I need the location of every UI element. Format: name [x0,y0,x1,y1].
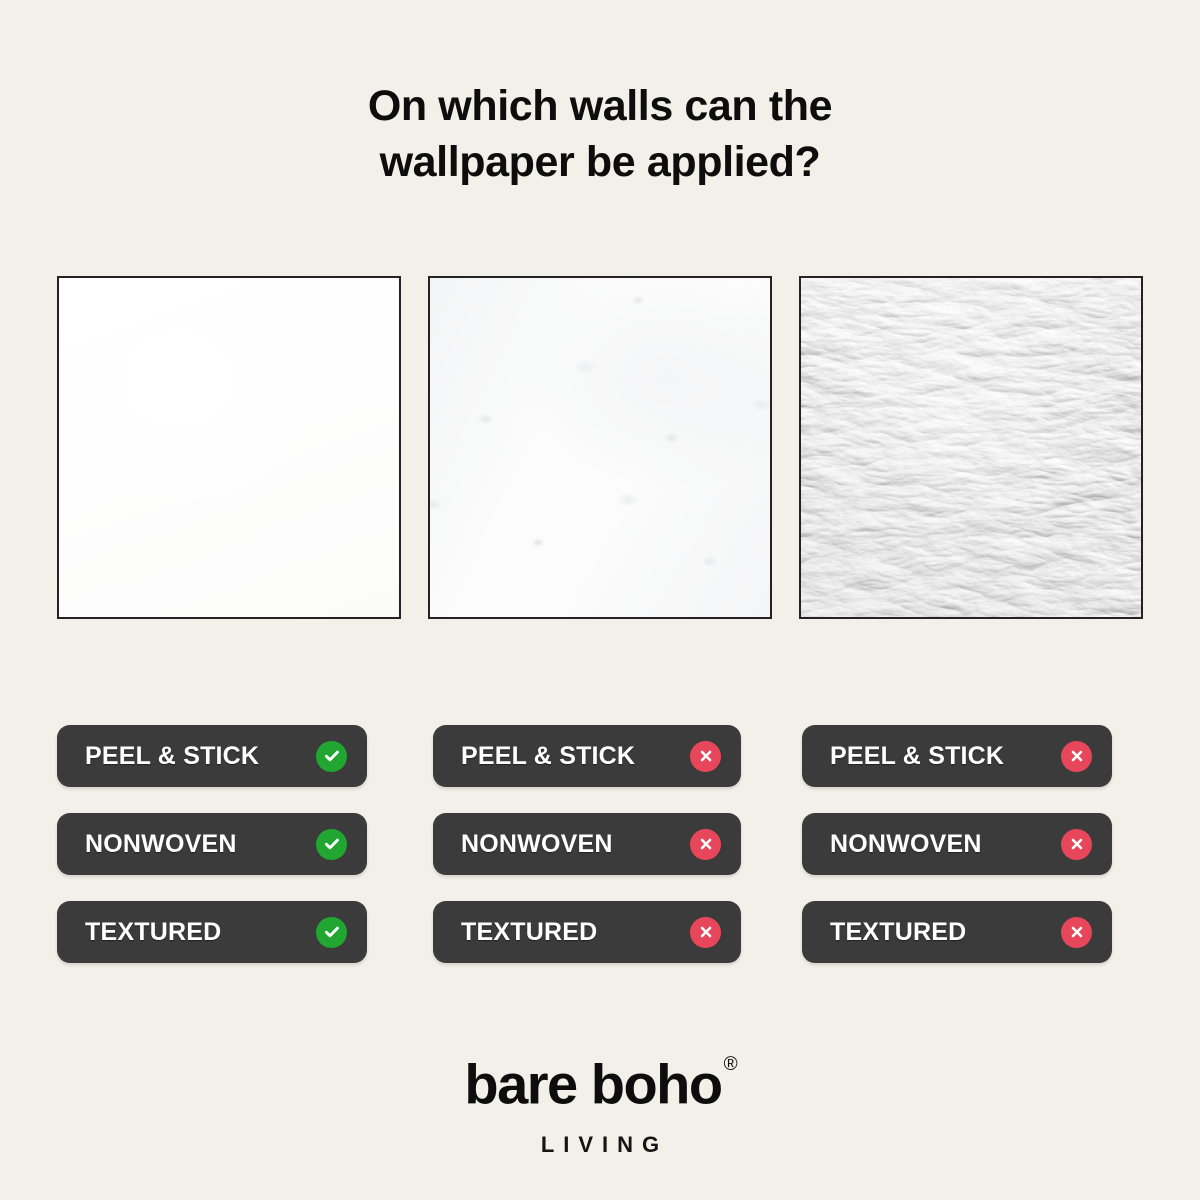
smooth-wall-texture [59,278,399,617]
badge-label: PEEL & STICK [830,742,1004,771]
badge-nonwoven-heavily-textured[interactable]: NONWOVEN [802,813,1112,875]
badge-textured-heavily-textured[interactable]: TEXTURED [802,901,1112,963]
cross-icon [1061,741,1092,772]
check-icon [316,917,347,948]
badge-label: PEEL & STICK [85,742,259,771]
light-wall-texture [430,278,770,617]
wall-panel-heavily-textured [799,276,1143,619]
badge-textured-lightly-textured[interactable]: TEXTURED [433,901,741,963]
page-title: On which walls can the wallpaper be appl… [0,78,1200,190]
badge-label: NONWOVEN [830,830,982,859]
heavy-texture-relief [801,278,1141,617]
badge-label: TEXTURED [830,918,966,947]
compatibility-column-lightly-textured-wall: PEEL & STICK NONWOVEN TEXTURED [433,725,743,989]
brand-subtitle: LIVING [0,1132,1200,1158]
badge-peel-and-stick-heavily-textured[interactable]: PEEL & STICK [802,725,1112,787]
badge-nonwoven-lightly-textured[interactable]: NONWOVEN [433,813,741,875]
wall-panel-smooth [57,276,401,619]
cross-icon [1061,829,1092,860]
cross-icon [1061,917,1092,948]
badge-textured-smooth[interactable]: TEXTURED [57,901,367,963]
check-icon [316,741,347,772]
wall-panel-row [57,276,1143,619]
compatibility-grid: PEEL & STICK NONWOVEN TEXTURED PEEL & ST… [0,725,1200,970]
cross-icon [690,741,721,772]
cross-icon [690,829,721,860]
heavy-wall-texture [801,278,1141,617]
badge-label: PEEL & STICK [461,742,635,771]
compatibility-column-smooth-wall: PEEL & STICK NONWOVEN TEXTURED [57,725,367,989]
page-title-line-2: wallpaper be applied? [0,134,1200,190]
brand-wordmark: bare boho® [464,1048,735,1116]
wall-panel-lightly-textured [428,276,772,619]
registered-trademark-icon: ® [724,1054,738,1075]
badge-label: NONWOVEN [461,830,613,859]
page-title-line-1: On which walls can the [0,78,1200,134]
badge-label: TEXTURED [85,918,221,947]
badge-label: NONWOVEN [85,830,237,859]
badge-label: TEXTURED [461,918,597,947]
cross-icon [690,917,721,948]
compatibility-column-heavily-textured-wall: PEEL & STICK NONWOVEN TEXTURED [802,725,1112,989]
badge-peel-and-stick-lightly-textured[interactable]: PEEL & STICK [433,725,741,787]
check-icon [316,829,347,860]
badge-nonwoven-smooth[interactable]: NONWOVEN [57,813,367,875]
badge-peel-and-stick-smooth[interactable]: PEEL & STICK [57,725,367,787]
brand-wordmark-text: bare boho [464,1053,721,1116]
brand-logo: bare boho® LIVING [0,1048,1200,1158]
